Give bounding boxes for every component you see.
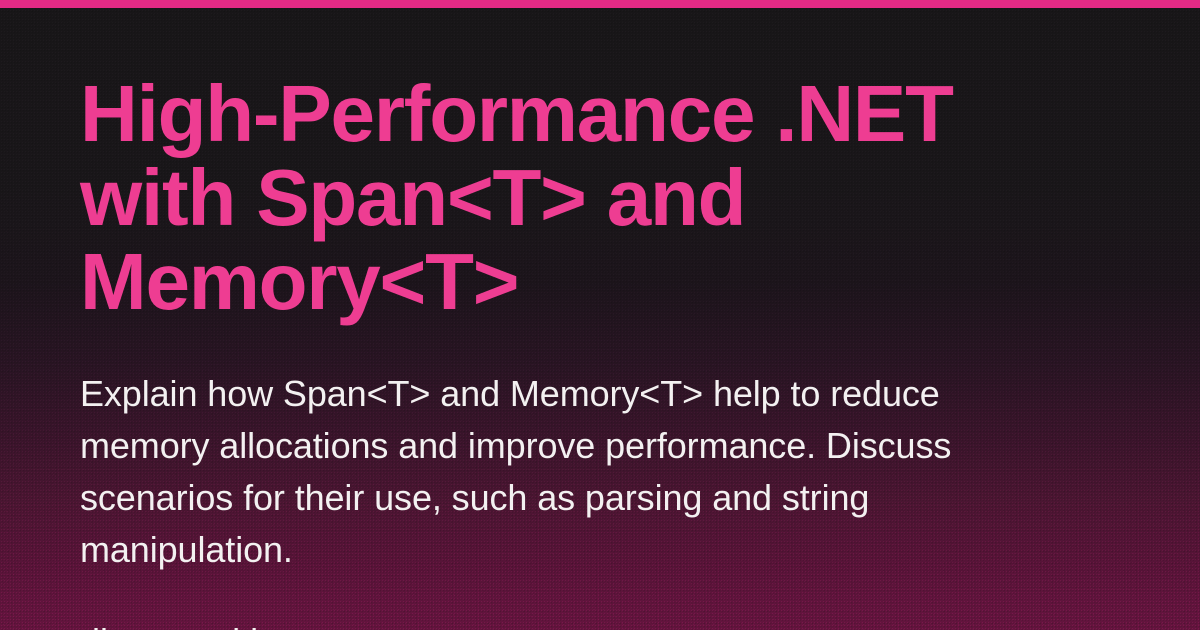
card-content: High-Performance .NET with Span<T> and M… (80, 0, 1020, 630)
social-preview-card: High-Performance .NET with Span<T> and M… (0, 0, 1200, 630)
clipped-overflow-text: discussed in (80, 576, 980, 630)
page-description: Explain how Span<T> and Memory<T> help t… (80, 324, 980, 576)
page-title: High-Performance .NET with Span<T> and M… (80, 0, 1000, 324)
accent-top-bar (0, 0, 1200, 8)
